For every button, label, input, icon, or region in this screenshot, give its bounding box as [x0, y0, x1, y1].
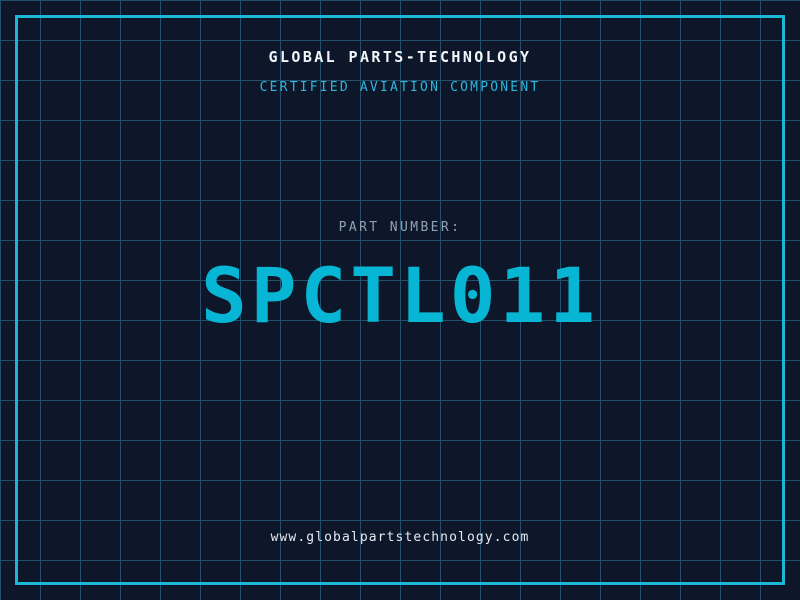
part-number-value: SPCTL011 [0, 258, 800, 334]
part-number-label: PART NUMBER: [0, 220, 800, 235]
brand-subtitle: CERTIFIED AVIATION COMPONENT [0, 80, 800, 95]
card-content: GLOBAL PARTS-TECHNOLOGY CERTIFIED AVIATI… [0, 0, 800, 600]
part-number-card: GLOBAL PARTS-TECHNOLOGY CERTIFIED AVIATI… [0, 0, 800, 600]
footer-website-url: www.globalpartstechnology.com [0, 530, 800, 545]
brand-title: GLOBAL PARTS-TECHNOLOGY [0, 48, 800, 66]
